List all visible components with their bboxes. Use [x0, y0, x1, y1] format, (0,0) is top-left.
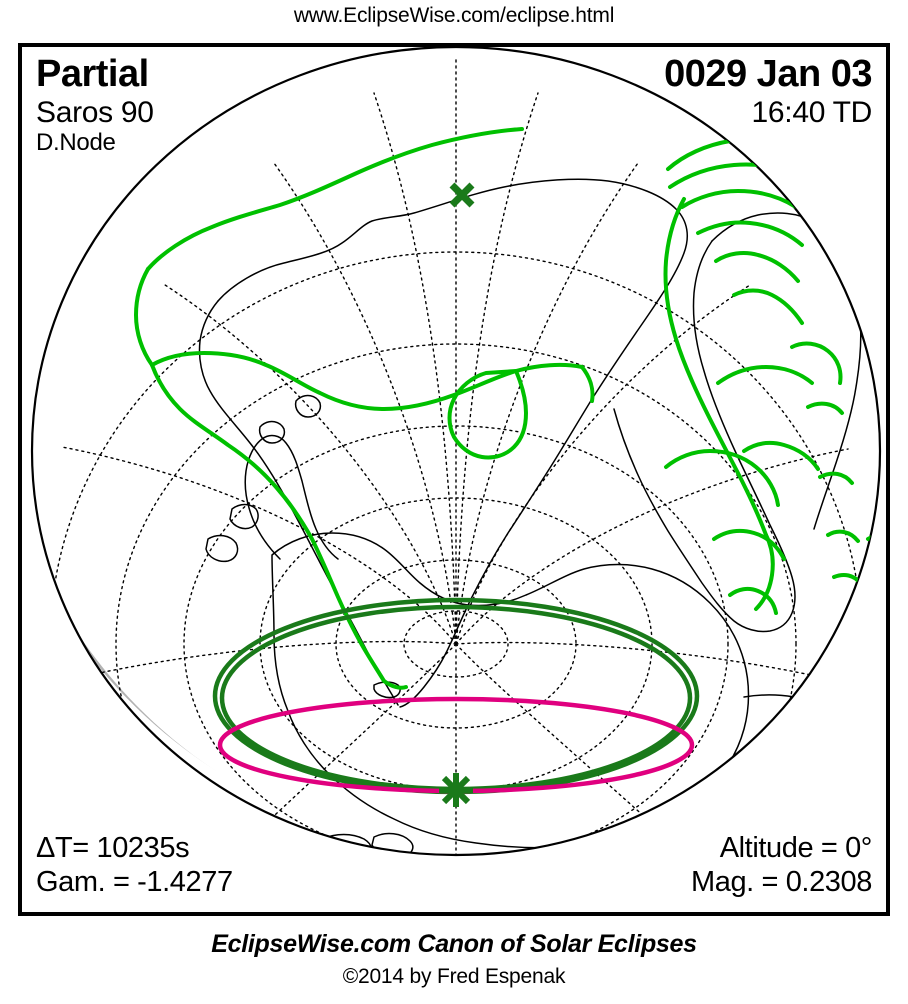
greatest-eclipse-marker [439, 773, 473, 807]
eclipse-params-bottom-left: ΔT= 10235s Gam. = -1.4277 [36, 834, 233, 902]
eclipse-date-label: 0029 Jan 03 [664, 55, 872, 93]
x-cross-icon [452, 185, 472, 205]
source-url-label: www.EclipseWise.com/eclipse.html [0, 4, 908, 28]
node-label: D.Node [36, 131, 154, 155]
subsolar-point-marker [452, 185, 472, 205]
penumbra-limit-curves [215, 600, 697, 792]
altitude-label: Altitude = 0° [691, 834, 872, 863]
publication-title: EclipseWise.com Canon of Solar Eclipses [0, 930, 908, 959]
gamma-label: Gam. = -1.4277 [36, 868, 233, 897]
magnitude-label: Mag. = 0.2308 [691, 868, 872, 897]
asterisk-center-dot [449, 783, 463, 797]
eclipse-time-label: 16:40 TD [664, 98, 872, 128]
map-frame: Partial Saros 90 D.Node 0029 Jan 03 16:4… [18, 43, 890, 916]
eclipse-datetime-top-right: 0029 Jan 03 16:40 TD [664, 55, 872, 131]
eclipse-map-page: www.EclipseWise.com/eclipse.html [0, 0, 908, 1004]
eclipse-params-bottom-right: Altitude = 0° Mag. = 0.2308 [691, 834, 872, 902]
eclipse-type-label: Partial [36, 55, 154, 93]
map-canvas: Partial Saros 90 D.Node 0029 Jan 03 16:4… [22, 47, 886, 912]
orthographic-globe-svg [22, 47, 886, 912]
copyright-notice: ©2014 by Fred Espenak [0, 965, 908, 989]
eclipse-summary-top-left: Partial Saros 90 D.Node [36, 55, 154, 155]
delta-t-label: ΔT= 10235s [36, 834, 233, 863]
saros-label: Saros 90 [36, 98, 154, 128]
